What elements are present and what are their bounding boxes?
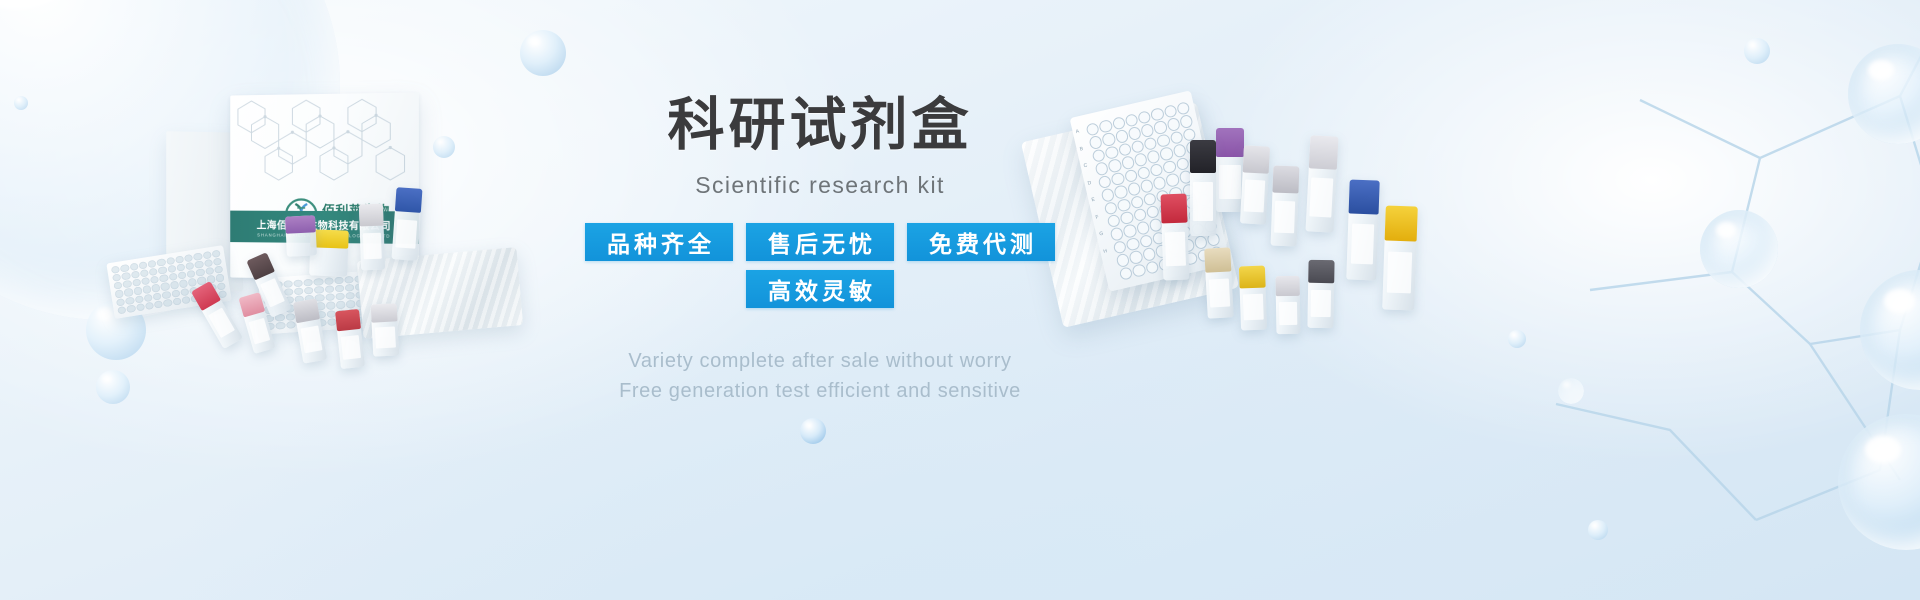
product-photo-left: 佰利莱生物 BAILILAI BIOLOGY 上海佰利莱生物科技有限公司 SHA…: [110, 78, 580, 378]
vial-cap: [1239, 266, 1266, 289]
vial-label: [1350, 224, 1374, 265]
row-label: F: [1095, 214, 1100, 221]
vial-cap: [1161, 194, 1188, 224]
feature-badge-list: 品种齐全 售后无忧 免费代测 高效灵敏: [560, 223, 1080, 308]
feature-badge[interactable]: 品种齐全: [585, 223, 733, 261]
vial-label: [300, 326, 322, 354]
reagent-vial: [359, 204, 385, 271]
water-bubble-icon: [14, 96, 28, 110]
vial-label: [1219, 165, 1240, 199]
feature-badge[interactable]: 高效灵敏: [746, 270, 894, 308]
vial-label: [341, 335, 362, 360]
reagent-vial: [1275, 276, 1300, 334]
row-label: E: [1091, 197, 1096, 204]
vial-label: [208, 307, 236, 338]
reagent-vial: [1382, 205, 1418, 310]
reagent-vial: [1216, 128, 1244, 212]
reagent-vial: [1161, 194, 1190, 281]
vial-label: [1310, 178, 1333, 217]
reagent-vial: [392, 187, 423, 261]
vial-cap: [1272, 166, 1299, 194]
feature-badge[interactable]: 售后无忧: [746, 223, 894, 261]
reagent-vial: [1271, 166, 1300, 247]
hexagon-pattern-icon: [230, 92, 419, 214]
vial-cap: [1309, 135, 1339, 169]
page-subtitle: Scientific research kit: [560, 172, 1080, 199]
vial-label: [1243, 294, 1264, 320]
vial-label: [1193, 182, 1213, 220]
reagent-vial: [1306, 135, 1339, 232]
vial-cap: [1349, 180, 1380, 215]
vial-label: [1311, 290, 1331, 318]
vial-cap: [395, 187, 423, 213]
vial-cap: [335, 309, 361, 331]
vial-cap: [1308, 260, 1334, 284]
row-label: G: [1099, 231, 1104, 238]
reagent-vial: [1240, 145, 1270, 224]
vial-cap: [1190, 140, 1216, 173]
row-label: H: [1103, 248, 1108, 255]
tagline-block: Variety complete after sale without worr…: [560, 346, 1080, 407]
feature-badge[interactable]: 免费代测: [907, 223, 1055, 261]
product-photo-right: A B C D E F G H: [1040, 110, 1460, 350]
vial-label: [1279, 301, 1298, 325]
reagent-vial: [1204, 247, 1234, 318]
reagent-vial: [371, 303, 400, 356]
vial-cap: [285, 215, 316, 233]
vial-label: [395, 219, 417, 249]
vial-label: [1274, 201, 1295, 234]
banner-text-block: 科研试剂盒 Scientific research kit 品种齐全 售后无忧 …: [560, 96, 1080, 407]
page-title: 科研试剂盒: [560, 96, 1080, 156]
tagline-line: Free generation test efficient and sensi…: [560, 376, 1080, 406]
promo-banner: 佰利莱生物 BAILILAI BIOLOGY 上海佰利莱生物科技有限公司 SHA…: [0, 0, 1920, 600]
vial-cap: [1216, 128, 1244, 157]
vial-label: [363, 233, 382, 260]
vial-label: [1244, 180, 1265, 212]
vial-cap: [1385, 205, 1418, 241]
vial-cap: [359, 204, 384, 227]
vial-cap: [1204, 247, 1231, 272]
row-label: C: [1083, 162, 1088, 169]
row-label: D: [1087, 180, 1092, 187]
vial-label: [375, 326, 396, 348]
reagent-vial: [285, 215, 317, 257]
tagline-line: Variety complete after sale without worr…: [560, 346, 1080, 376]
water-bubble-icon: [800, 418, 826, 444]
vial-cap: [293, 298, 320, 323]
reagent-vial: [1190, 140, 1216, 236]
vial-cap: [371, 303, 398, 322]
vial-label: [1387, 251, 1413, 293]
vial-label: [1165, 231, 1186, 266]
vial-cap: [1243, 145, 1270, 173]
vial-label: [248, 317, 270, 344]
vial-label: [1209, 278, 1230, 307]
vial-cap: [1275, 276, 1299, 296]
water-bubble-icon: [520, 30, 566, 76]
reagent-vial: [1307, 260, 1334, 328]
reagent-vial: [1346, 180, 1379, 281]
reagent-vial: [1239, 266, 1267, 331]
